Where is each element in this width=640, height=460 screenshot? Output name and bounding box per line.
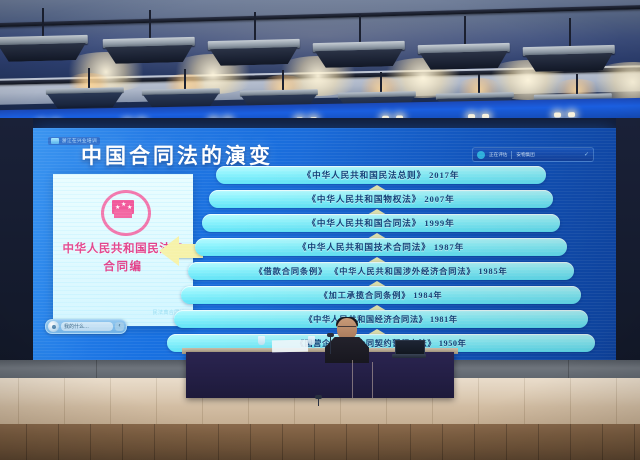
stage-front-panel-line — [538, 424, 539, 460]
water-cup — [258, 336, 265, 345]
stage-light-fixture — [208, 39, 301, 67]
presentation-table — [186, 352, 454, 398]
stage-front-panel — [0, 424, 640, 460]
stage-front-panel-line — [282, 424, 283, 460]
stage-front-panel-line — [58, 424, 59, 460]
stage-front-panel-line — [410, 424, 411, 460]
presenter-person — [325, 318, 369, 362]
stage-front-panel-line — [250, 424, 251, 460]
stage-light-fixture — [0, 35, 88, 63]
stage-front-panel-line — [218, 424, 219, 460]
wall-right-of-screen — [616, 118, 640, 364]
stage-front-panel-line — [506, 424, 507, 460]
stage-front-panel-line — [442, 424, 443, 460]
water-cup — [308, 336, 315, 345]
floor-connector — [318, 398, 319, 406]
light-hanger — [380, 72, 382, 94]
light-hanger — [576, 74, 578, 96]
laptop-computer — [392, 340, 426, 358]
stage-front-panel-line — [186, 424, 187, 460]
stage-light-fixture — [418, 42, 511, 70]
light-hanger — [149, 10, 151, 38]
stage-front-panel-line — [314, 424, 315, 460]
wall-left-of-screen — [0, 118, 33, 364]
light-hanger — [569, 18, 571, 46]
stage-front-panel-line — [474, 424, 475, 460]
band-downlight — [568, 112, 575, 117]
stage-front-panel-line — [26, 424, 27, 460]
stage-front-panel-line — [378, 424, 379, 460]
torso — [325, 337, 369, 363]
glasses-icon — [338, 326, 356, 331]
stage-light-fixture — [103, 37, 196, 65]
stage-front-panel-line — [346, 424, 347, 460]
light-hanger — [42, 8, 44, 36]
stage-front-panel-line — [570, 424, 571, 460]
wall-seam — [568, 360, 569, 380]
lecture-hall-photo: 浙江在兴业培训 中国合同法的演变 正在评估 安物集团 ✓ ★ ★ ★ 中华人民共… — [0, 0, 640, 460]
light-hanger — [478, 73, 480, 95]
stage-front-panel-line — [122, 424, 123, 460]
stage-light-fixture — [46, 87, 124, 110]
light-hanger — [359, 14, 361, 42]
light-hanger — [464, 16, 466, 44]
stage-front-panel-line — [602, 424, 603, 460]
light-hanger — [184, 69, 186, 91]
cable — [372, 362, 373, 398]
stage-light-fixture — [313, 41, 406, 69]
stage-front-panel-line — [90, 424, 91, 460]
desk-microphone — [330, 336, 331, 354]
cable — [352, 360, 353, 398]
band-downlight — [554, 112, 561, 117]
papers-on-table — [272, 340, 308, 353]
stage-front-panel-line — [154, 424, 155, 460]
light-hanger — [254, 12, 256, 40]
light-hanger — [88, 68, 90, 90]
stage-light-fixture — [523, 44, 616, 72]
stage-front-panel-line — [634, 424, 635, 460]
wall-seam — [96, 360, 97, 380]
